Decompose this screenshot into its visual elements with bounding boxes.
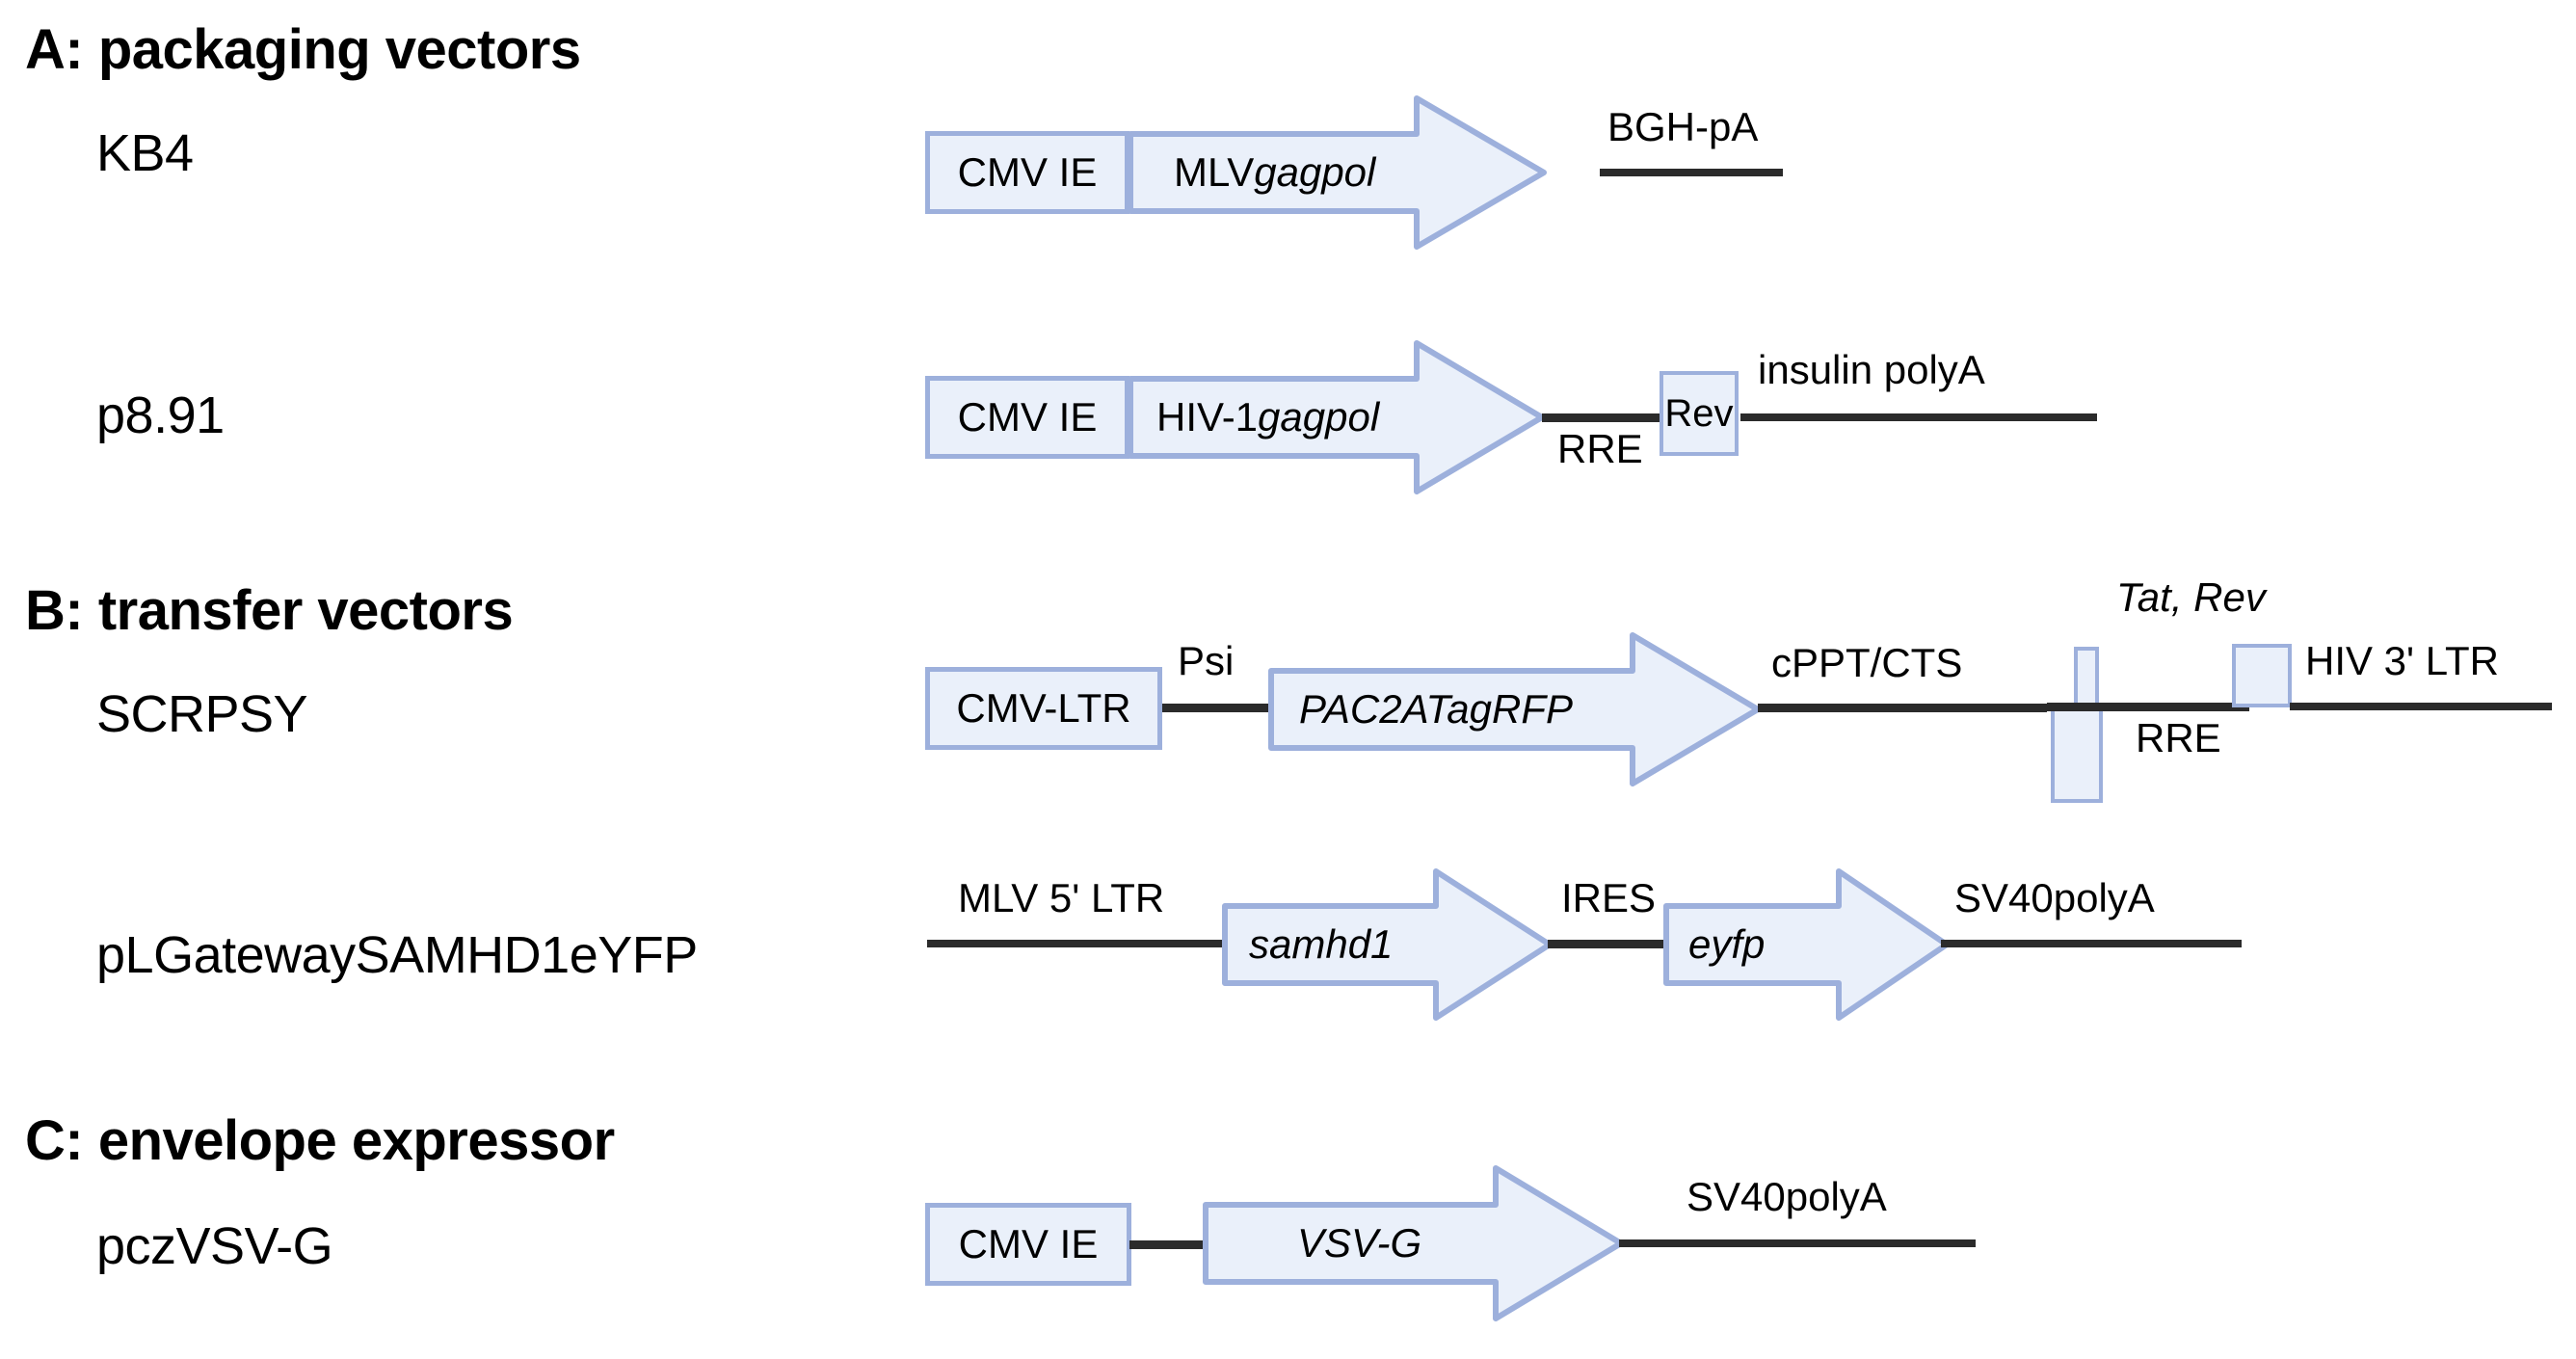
element-label-rre: RRE (2136, 715, 2221, 761)
vector-name-scrpsy: SCRPSY (96, 684, 307, 744)
element-arrow-pac2atagrfp: PAC2ATagRFP (1268, 631, 1762, 787)
element-line-mlv-5-ltr (927, 940, 1230, 947)
element-label: CMV-LTR (956, 685, 1130, 732)
vector-name-plgateway: pLGatewaySAMHD1eYFP (96, 925, 698, 985)
element-label: CMV IE (959, 1221, 1099, 1267)
vector-name-kb4: KB4 (96, 123, 194, 183)
section-header-c: C: envelope expressor (25, 1108, 615, 1173)
element-label: Rev (1664, 392, 1733, 436)
element-label-psi: Psi (1178, 638, 1234, 684)
element-label-ires: IRES (1561, 875, 1656, 921)
element-label: CMV IE (958, 394, 1098, 440)
element-label-rre: RRE (1557, 426, 1643, 472)
element-line-connector (1129, 1240, 1207, 1249)
element-box-tat-upper (2074, 647, 2099, 710)
element-arrow-eyfp: eyfp (1663, 867, 1951, 1022)
element-line-hiv-3-ltr (2290, 703, 2552, 710)
element-label-sv40-polya: SV40polyA (1686, 1174, 1887, 1220)
element-label-cppt-cts: cPPT/CTS (1771, 640, 1962, 686)
element-label: CMV IE (958, 149, 1098, 196)
element-line-cppt-cts (1758, 704, 2047, 712)
element-box-tat-lower (2051, 705, 2103, 803)
element-box-cmv-ie: CMV IE (925, 1203, 1131, 1286)
element-line-rre (1542, 413, 1665, 422)
element-box-cmv-ie: CMV IE (925, 131, 1129, 214)
element-box-cmv-ltr: CMV-LTR (925, 667, 1162, 750)
element-label-hiv-3-ltr: HIV 3' LTR (2305, 638, 2499, 684)
element-box-rev: Rev (1660, 371, 1739, 456)
element-arrow-hiv1-gagpol: HIV-1 gagpol (1128, 339, 1546, 495)
element-line-rre (2047, 703, 2249, 711)
element-line-bgh-pa (1600, 169, 1783, 176)
figure-canvas: A: packaging vectors KB4 CMV IE MLV gagp… (0, 0, 2576, 1359)
element-arrow-vsv-g: VSV-G (1203, 1164, 1625, 1322)
element-box-cmv-ie: CMV IE (925, 376, 1129, 459)
element-line-ires (1548, 940, 1665, 948)
element-line-sv40-polya (1619, 1239, 1976, 1247)
vector-name-pczvsvg: pczVSV-G (96, 1216, 332, 1276)
element-arrow-mlv-gagpol: MLV gagpol (1128, 94, 1548, 251)
element-box-rev-upper (2232, 644, 2292, 707)
element-arrow-samhd1: samhd1 (1222, 867, 1554, 1022)
element-label-insulin-polya: insulin polyA (1758, 347, 1985, 393)
element-label-mlv-5-ltr: MLV 5' LTR (958, 875, 1164, 921)
vector-name-p891: p8.91 (96, 386, 225, 445)
section-header-a: A: packaging vectors (25, 17, 581, 82)
element-line-psi (1162, 704, 1270, 712)
element-label-tat-rev: Tat, Rev (2116, 574, 2266, 621)
element-line-insulin-polya (1740, 413, 2097, 421)
element-line-sv40-polya (1941, 940, 2242, 947)
element-label-bgh-pa: BGH-pA (1607, 104, 1758, 150)
section-header-b: B: transfer vectors (25, 578, 513, 643)
element-label-sv40-polya: SV40polyA (1954, 875, 2155, 921)
